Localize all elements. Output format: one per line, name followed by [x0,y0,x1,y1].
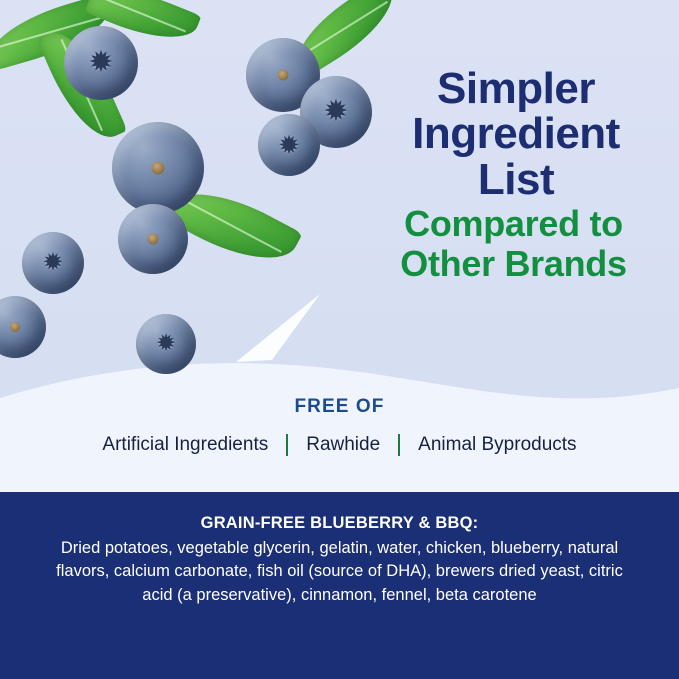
divider [286,434,288,456]
subheadline-line-1: Compared to [356,204,671,244]
blueberry-icon: ✹ [136,314,196,374]
subheadline-line-2: Other Brands [356,244,671,284]
headline-line-1: Simpler [366,66,666,111]
blueberry-icon [0,296,46,358]
free-of-item: Rawhide [306,434,380,456]
ingredients-text: Dried potatoes, vegetable glycerin, gela… [40,537,640,607]
divider [398,434,400,456]
ingredients-title: GRAIN-FREE BLUEBERRY & BBQ: [30,514,649,533]
free-of-item: Animal Byproducts [418,434,576,456]
headline-line-2: Ingredient [366,111,666,156]
free-of-section: FREE OF Artificial Ingredients Rawhide A… [0,396,679,456]
free-of-list: Artificial Ingredients Rawhide Animal By… [0,434,679,456]
product-feature-poster: ✹ ✹ ✹ ✹ ✹ Simpler Ingredient [0,0,679,679]
subheadline: Compared to Other Brands [356,204,671,285]
blueberry-icon: ✹ [22,232,84,294]
headline-line-3: List [366,157,666,202]
free-of-title: FREE OF [0,396,679,418]
blueberry-icon [112,122,204,214]
blueberry-icon: ✹ [64,26,138,100]
free-of-item: Artificial Ingredients [102,434,268,456]
blueberry-icon: ✹ [258,114,320,176]
ingredients-footer: GRAIN-FREE BLUEBERRY & BBQ: Dried potato… [0,492,679,679]
headline: Simpler Ingredient List [366,66,666,202]
blueberry-icon [118,204,188,274]
